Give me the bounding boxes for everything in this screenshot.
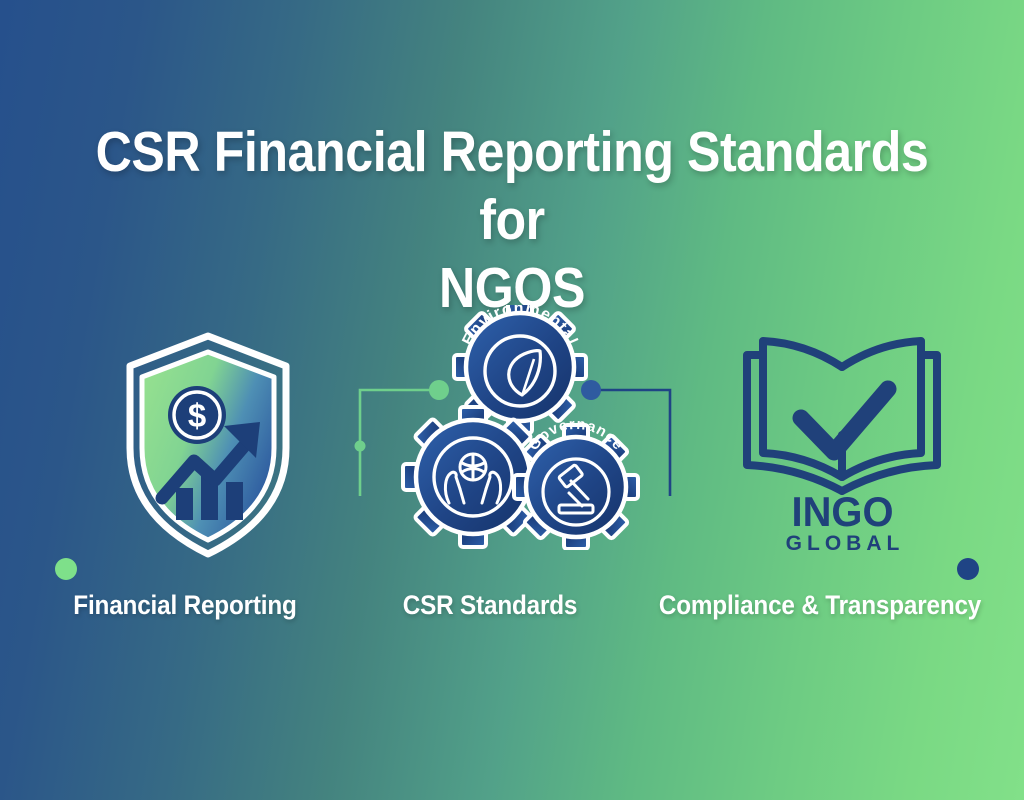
- pillar-label-financial-reporting: Financial Reporting: [37, 590, 334, 621]
- connector-line-right: [578, 368, 678, 498]
- infographic-poster: CSR Financial Reporting Standards for NG…: [0, 0, 1024, 800]
- pillar-labels: Financial Reporting CSR Standards Compli…: [0, 590, 1024, 621]
- brand-subtitle: GLOBAL: [735, 532, 950, 556]
- baseline-rule: [55, 556, 979, 582]
- baseline-dot-left: [55, 558, 77, 580]
- pillar-label-compliance-transparency: Compliance & Transparency: [649, 590, 991, 621]
- checkmark-icon: [801, 389, 888, 452]
- shield-dollar-growth-icon: $: [118, 330, 298, 560]
- pillar-label-csr-standards: CSR Standards: [364, 590, 616, 621]
- svg-text:$: $: [188, 397, 206, 434]
- page-title: CSR Financial Reporting Standards for NG…: [61, 118, 962, 322]
- baseline-dot-right: [957, 558, 979, 580]
- brand-wordmark: INGO GLOBAL: [735, 492, 950, 556]
- brand-name: INGO: [740, 492, 944, 532]
- dollar-coin-icon: $: [168, 386, 226, 444]
